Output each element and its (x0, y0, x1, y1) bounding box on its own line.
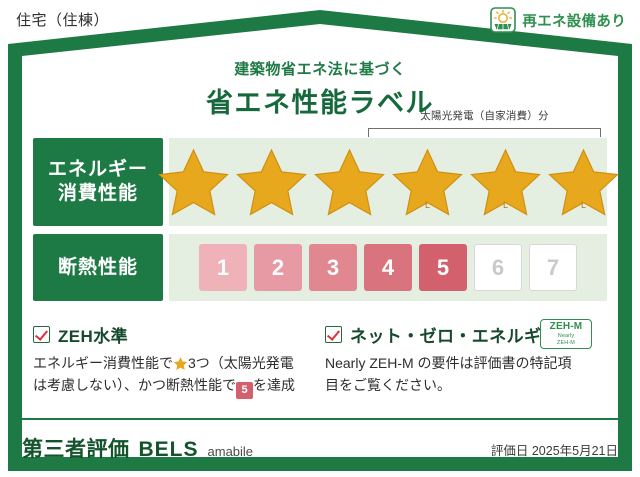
energy-performance-row-label: エネルギー 消費性能 (33, 138, 163, 226)
zeh-body-stars: 3つ (188, 355, 210, 371)
zeh-body-line2-part2: を達成 (253, 377, 295, 393)
zeh-m-logo-sub1: Nearly (558, 334, 575, 340)
insulation-grade-3: 3 (309, 244, 357, 291)
label-subtitle: 建築物省エネ法に基づく (0, 58, 640, 79)
check-icon (33, 326, 50, 343)
energy-performance-label: 住宅（住棟） 再エネ設備あり 建築物省エネ法に基づく (0, 0, 640, 477)
star-icon-solar: L (390, 146, 465, 218)
zeh-body-line2-part1: は考慮しない）、かつ断熱性能で (33, 377, 236, 393)
insulation-grade-5: 5 (419, 244, 467, 291)
net-zero-heading: ネット・ゼロ・エネルギー ZEH-M Nearly ZEH-M (325, 322, 610, 346)
net-zero-body-line1: Nearly ZEH-M の要件は評価書の特記項 (325, 355, 572, 371)
footer-left: 第三者評価 BELS amabile (22, 433, 253, 463)
zeh-m-logo-icon: ZEH-M Nearly ZEH-M (540, 319, 592, 349)
energy-label-line1: エネルギー (48, 158, 148, 182)
svg-text:L: L (580, 200, 585, 210)
net-zero-energy-block: ネット・ゼロ・エネルギー ZEH-M Nearly ZEH-M Nearly Z… (325, 322, 610, 396)
insulation-performance-row: 断熱性能 1 2 3 4 5 6 7 (33, 234, 607, 301)
zeh-standard-body: エネルギー消費性能で3つ（太陽光発電 は考慮しない）、かつ断熱性能で5を達成 (33, 353, 318, 399)
star-rating: L L L (169, 138, 607, 226)
energy-label-line2: 消費性能 (58, 182, 138, 206)
svg-text:L: L (502, 200, 507, 210)
building-category: 住宅（住棟） (16, 9, 109, 30)
net-zero-body-line2: 目をご覧ください。 (325, 377, 451, 393)
bracket-line (368, 128, 601, 137)
third-party-evaluation-label: 第三者評価 (22, 433, 130, 463)
insulation-grade-2: 2 (254, 244, 302, 291)
net-zero-title: ネット・ゼロ・エネルギー (350, 322, 559, 347)
insulation-grade-inline: 5 (236, 382, 253, 399)
zeh-m-logo-sub2: ZEH-M (557, 341, 575, 347)
zeh-body-part1: エネルギー消費性能で (33, 355, 173, 371)
check-icon (325, 326, 342, 343)
zeh-standard-block: ZEH水準 エネルギー消費性能で3つ（太陽光発電 は考慮しない）、かつ断熱性能で… (33, 322, 318, 399)
evaluation-date: 評価日 2025年5月21日 (491, 440, 618, 459)
renewable-energy-label: 再エネ設備あり (522, 10, 626, 31)
energy-performance-row: エネルギー 消費性能 太陽光発電（自家消費）分 L (33, 138, 607, 226)
star-icon (312, 146, 387, 218)
bels-logo: BELS (139, 438, 199, 462)
renewable-energy-badge: 再エネ設備あり (490, 7, 626, 33)
insulation-grade-1: 1 (199, 244, 247, 291)
star-icon-solar: L (468, 146, 543, 218)
sun-icon (490, 7, 516, 33)
svg-text:L: L (424, 200, 429, 210)
insulation-label-line1: 断熱性能 (58, 256, 138, 280)
zeh-standard-title: ZEH水準 (58, 322, 128, 347)
solar-portion-bracket: 太陽光発電（自家消費）分 (368, 111, 601, 137)
star-icon (156, 146, 231, 218)
insulation-row-label: 断熱性能 (33, 234, 163, 301)
zeh-standard-heading: ZEH水準 (33, 322, 318, 346)
energy-performance-stars-panel: 太陽光発電（自家消費）分 L L (169, 138, 607, 226)
star-icon-solar: L (546, 146, 621, 218)
solar-portion-label: 太陽光発電（自家消費）分 (368, 108, 601, 123)
insulation-grade-panel: 1 2 3 4 5 6 7 (169, 234, 607, 301)
zeh-body-part2: （太陽光発電 (210, 355, 294, 371)
insulation-grade-6: 6 (474, 244, 522, 291)
star-icon-inline (173, 356, 188, 371)
net-zero-body: Nearly ZEH-M の要件は評価書の特記項 目をご覧ください。 (325, 353, 610, 396)
insulation-grade-4: 4 (364, 244, 412, 291)
brand-name: amabile (208, 444, 254, 459)
star-icon (234, 146, 309, 218)
insulation-grade-7: 7 (529, 244, 577, 291)
zeh-m-logo-main: ZEH-M (550, 322, 583, 332)
